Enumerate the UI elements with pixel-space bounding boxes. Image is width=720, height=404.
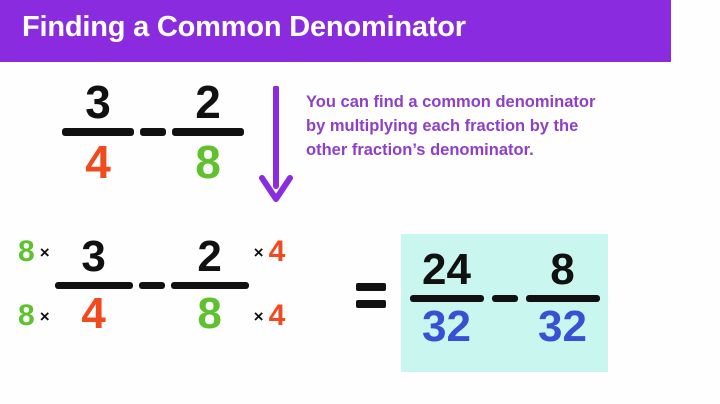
result-right-numerator: 8	[550, 247, 574, 293]
top-right-fraction: 2 8	[172, 78, 244, 186]
fraction-bar	[410, 295, 484, 302]
title-banner: Finding a Common Denominator	[0, 0, 671, 62]
times-icon: ×	[40, 244, 50, 261]
equals-operator-icon	[356, 283, 386, 309]
right-multiplier-stack: × 4 × 4	[249, 232, 286, 338]
explanation-line-3: other fraction’s denominator.	[306, 138, 648, 162]
right-multiplier-bottom-row: × 4	[249, 296, 286, 336]
minus-operator-icon	[139, 282, 165, 289]
fraction-bar	[55, 282, 133, 289]
times-icon: ×	[40, 308, 50, 325]
bottom-left-denominator: 4	[81, 291, 105, 337]
explanation-line-2: by multiplying each fraction by the	[306, 114, 648, 138]
top-left-numerator: 3	[85, 78, 111, 126]
down-arrow-icon	[258, 86, 294, 204]
result-right-denominator: 32	[538, 304, 587, 350]
minus-operator-icon	[140, 128, 166, 136]
result-left-denominator: 32	[422, 304, 471, 350]
times-icon: ×	[254, 308, 264, 325]
explanation-line-1: You can find a common denominator	[306, 90, 648, 114]
top-right-numerator: 2	[195, 78, 221, 126]
equals-bar-top	[356, 283, 386, 291]
fraction-bar	[172, 128, 244, 136]
minus-operator-icon	[492, 295, 518, 302]
left-multiplier-stack: 8 × 8 ×	[18, 232, 55, 338]
bottom-expression: 8 × 8 × 3 4 2 8 × 4 × 4	[18, 232, 285, 338]
bottom-right-numerator: 2	[197, 234, 221, 280]
times-icon: ×	[254, 244, 264, 261]
right-multiplier-bottom: 4	[269, 301, 286, 331]
left-multiplier-top-row: 8 ×	[18, 232, 55, 272]
left-multiplier-bottom: 8	[18, 301, 35, 331]
right-multiplier-top: 4	[269, 237, 286, 267]
right-multiplier-top-row: × 4	[249, 232, 286, 272]
page-title: Finding a Common Denominator	[22, 11, 466, 44]
result-highlight-box: 24 32 8 32	[401, 234, 608, 372]
fraction-bar	[62, 128, 134, 136]
fraction-bar	[526, 295, 600, 302]
result-expression: 24 32 8 32	[401, 247, 608, 350]
left-multiplier-top: 8	[18, 237, 35, 267]
top-left-fraction: 3 4	[62, 78, 134, 186]
top-left-denominator: 4	[85, 138, 111, 186]
equals-bar-bottom	[356, 300, 386, 308]
left-multiplier-bottom-row: 8 ×	[18, 296, 55, 336]
bottom-left-numerator: 3	[81, 234, 105, 280]
bottom-right-denominator: 8	[197, 291, 221, 337]
result-left-numerator: 24	[422, 247, 471, 293]
bottom-left-fraction: 3 4	[55, 234, 133, 337]
top-right-denominator: 8	[195, 138, 221, 186]
result-left-fraction: 24 32	[410, 247, 484, 350]
bottom-right-fraction: 2 8	[171, 234, 249, 337]
explanation-text: You can find a common denominator by mul…	[306, 90, 648, 162]
fraction-bar	[171, 282, 249, 289]
top-expression: 3 4 2 8	[62, 78, 244, 186]
result-right-fraction: 8 32	[526, 247, 600, 350]
